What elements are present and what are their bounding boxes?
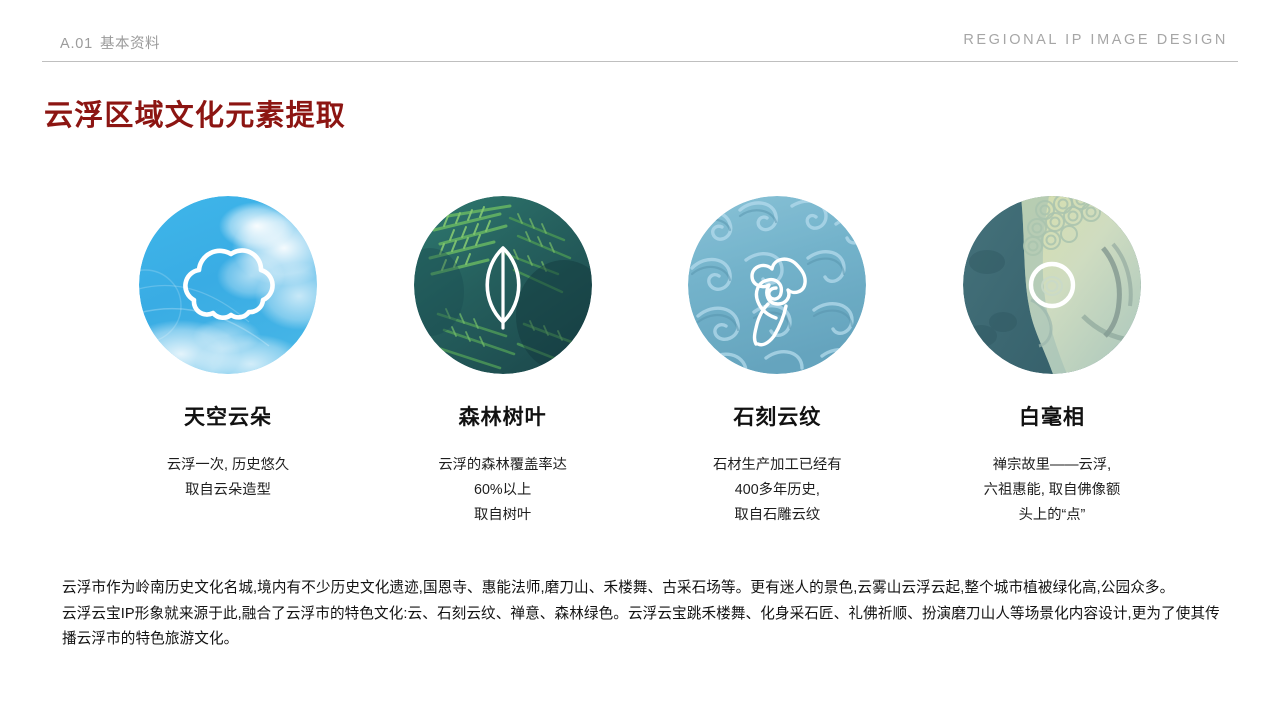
- element-cards-row: 天空云朵 云浮一次, 历史悠久 取自云朵造型: [110, 196, 1170, 528]
- card-description: 云浮一次, 历史悠久 取自云朵造型: [167, 453, 289, 503]
- card-description: 云浮的森林覆盖率达 60%以上 取自树叶: [438, 453, 567, 528]
- stone-carving-illustration: [688, 196, 866, 374]
- forest-foliage-illustration: [414, 196, 592, 374]
- description-block: 云浮市作为岭南历史文化名城,境内有不少历史文化遗迹,国恩寺、惠能法师,磨刀山、禾…: [62, 576, 1232, 653]
- card-stone-cloud-pattern[interactable]: 石刻云纹 石材生产加工已经有 400多年历史, 取自石雕云纹: [659, 196, 895, 528]
- card-forest-leaf[interactable]: 森林树叶 云浮的森林覆盖率达 60%以上 取自树叶: [385, 196, 621, 528]
- page-title: 云浮区域文化元素提取: [44, 92, 346, 134]
- description-paragraph-1: 云浮市作为岭南历史文化名城,境内有不少历史文化遗迹,国恩寺、惠能法师,磨刀山、禾…: [62, 576, 1232, 602]
- card-title: 天空云朵: [184, 401, 272, 431]
- section-label: 基本资料: [100, 36, 160, 52]
- buddha-statue-photo: [963, 196, 1141, 374]
- card-description: 石材生产加工已经有 400多年历史, 取自石雕云纹: [713, 453, 842, 528]
- header-divider: [42, 61, 1238, 62]
- sky-clouds-illustration: [139, 196, 317, 374]
- sky-clouds-photo: [139, 196, 317, 374]
- card-title: 森林树叶: [459, 401, 547, 431]
- forest-foliage-photo: [414, 196, 592, 374]
- page-header: A.01基本资料 REGIONAL IP IMAGE DESIGN: [0, 0, 1280, 64]
- card-title: 石刻云纹: [733, 401, 821, 431]
- card-description: 禅宗故里——云浮, 六祖惠能, 取自佛像额 头上的“点”: [984, 453, 1121, 528]
- section-breadcrumb: A.01基本资料: [60, 32, 160, 53]
- buddha-statue-illustration: [963, 196, 1141, 374]
- card-sky-cloud[interactable]: 天空云朵 云浮一次, 历史悠久 取自云朵造型: [110, 196, 346, 528]
- card-title: 白毫相: [1019, 401, 1085, 431]
- description-paragraph-2: 云浮云宝IP形象就来源于此,融合了云浮市的特色文化:云、石刻云纹、禅意、森林绿色…: [62, 602, 1232, 653]
- stone-carving-photo: [688, 196, 866, 374]
- deck-title: REGIONAL IP IMAGE DESIGN: [963, 32, 1228, 48]
- card-buddha-urna[interactable]: 白毫相 禅宗故里——云浮, 六祖惠能, 取自佛像额 头上的“点”: [934, 196, 1170, 528]
- section-code: A.01: [60, 36, 93, 52]
